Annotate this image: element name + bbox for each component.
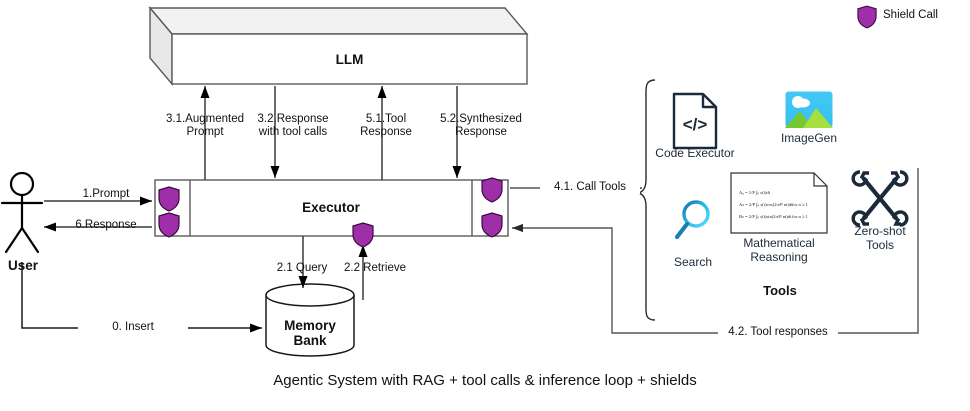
edge-label-insert: 0. Insert (78, 321, 188, 334)
memory-bank-label: Memory Bank (266, 318, 354, 348)
user-label: User (0, 258, 46, 273)
edge-label-call-tools: 4.1. Call Tools (540, 181, 640, 194)
svg-text:for n ≥ 1: for n ≥ 1 (792, 202, 809, 207)
edge-label-retrieve: 2.2 Retrieve (334, 262, 416, 275)
edge-label-synthesized-response: 5.2.Synthesized Response (426, 113, 536, 139)
svg-text:</>: </> (683, 115, 708, 134)
tool-label-math-reasoning: Mathematical Reasoning (728, 236, 830, 264)
shield-icon[interactable] (352, 222, 374, 248)
tools-brace (637, 80, 655, 320)
shield-icon[interactable] (158, 186, 180, 212)
code-file-icon[interactable]: </> (671, 92, 719, 150)
tools-title: Tools (715, 283, 845, 298)
edge-label-tool-response: 5.1.Tool Response (340, 113, 432, 139)
edge-label-response-tool-calls: 3.2.Response with tool calls (234, 113, 352, 139)
edge-label-response: 6.Response (60, 219, 152, 232)
edge-label-tool-responses: 4.2. Tool responses (718, 326, 838, 339)
user-actor[interactable] (2, 173, 42, 252)
edge-label-query: 2.1 Query (266, 262, 338, 275)
math-document-icon[interactable]: A₀ = 1/P ∫ₚ s(t)dt Aₙ = 2/P ∫ₚ s(t)cos(2… (730, 172, 828, 234)
tool-label-search: Search (657, 255, 729, 269)
tool-label-imagegen: ImageGen (773, 131, 845, 145)
tool-label-zero-shot: Zero-shot Tools (838, 224, 922, 252)
executor-label: Executor (190, 200, 472, 215)
edge-insert (22, 262, 262, 328)
svg-text:for n ≥ 1: for n ≥ 1 (792, 214, 809, 219)
edge-label-prompt: 1.Prompt (66, 188, 146, 201)
llm-box[interactable] (150, 8, 527, 84)
shield-icon[interactable] (481, 212, 503, 238)
tool-label-code-executor: Code Executor (649, 146, 741, 160)
crossed-wrenches-icon[interactable] (851, 168, 909, 230)
image-icon[interactable] (785, 91, 833, 128)
llm-label: LLM (172, 52, 527, 67)
shield-icon-legend (857, 5, 877, 29)
shield-icon[interactable] (158, 212, 180, 238)
shield-icon[interactable] (481, 177, 503, 203)
legend-label: Shield Call (883, 9, 938, 21)
magnifier-icon[interactable] (672, 198, 714, 244)
diagram-caption: Agentic System with RAG + tool calls & i… (0, 372, 970, 389)
